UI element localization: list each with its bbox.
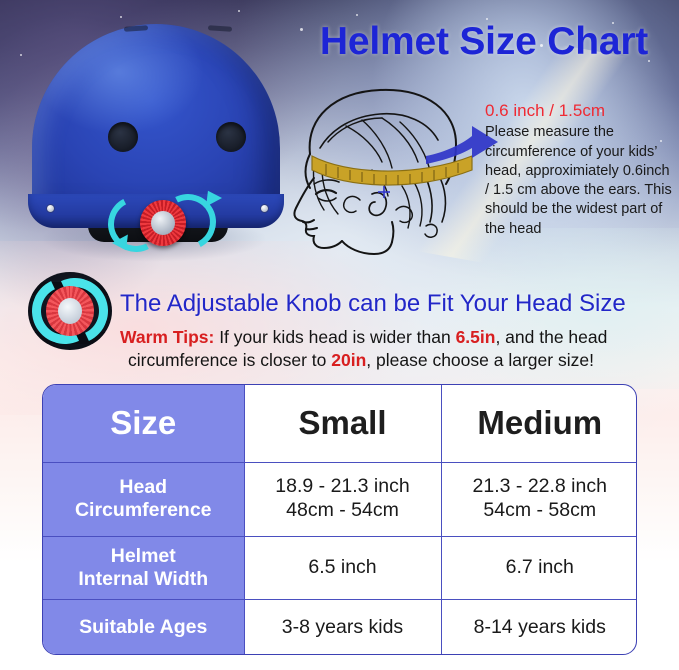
cell-line: 6.7 inch	[442, 556, 638, 580]
helmet-vent-hole-icon	[216, 122, 246, 152]
cell-line: 3-8 years kids	[245, 616, 441, 640]
helmet-rivet-icon	[46, 204, 55, 213]
cell-suitable-ages-medium: 8-14 years kids	[441, 599, 637, 655]
table-row: Head Circumference 18.9 - 21.3 inch 48cm…	[43, 462, 637, 536]
warm-tips-part2: , and the head	[495, 327, 607, 347]
page-title: Helmet Size Chart	[298, 22, 670, 61]
cell-line: 48cm - 54cm	[245, 499, 441, 523]
cell-suitable-ages-small: 3-8 years kids	[244, 599, 441, 655]
helmet-vent-slot-icon	[124, 25, 148, 32]
cell-line: 54cm - 58cm	[442, 499, 638, 523]
cell-helmet-internal-width-small: 6.5 inch	[244, 536, 441, 599]
warm-tips-value-circumference: 20in	[331, 350, 366, 370]
adjustable-knob-icon	[28, 272, 112, 350]
row-label-line: Head	[43, 476, 244, 499]
helmet-adjust-knob-icon	[140, 200, 186, 246]
table-header-medium: Medium	[441, 385, 637, 462]
warm-tips-part4: , please choose a larger size!	[366, 350, 594, 370]
measure-note-body: Please measure the circumference of your…	[485, 123, 675, 239]
row-label-suitable-ages: Suitable Ages	[43, 599, 244, 655]
measure-note-heading: 0.6 inch / 1.5cm	[485, 100, 675, 121]
cell-head-circumference-medium: 21.3 - 22.8 inch 54cm - 58cm	[441, 462, 637, 536]
row-label-head-circumference: Head Circumference	[43, 462, 244, 536]
cell-line: 8-14 years kids	[442, 616, 638, 640]
warm-tips-value-width: 6.5in	[456, 327, 496, 347]
row-label-helmet-internal-width: Helmet Internal Width	[43, 536, 244, 599]
measure-note: 0.6 inch / 1.5cm Please measure the circ…	[485, 100, 675, 239]
knob-dial-icon	[46, 286, 94, 336]
warm-tips: Warm Tips: If your kids head is wider th…	[120, 326, 672, 373]
star-icon	[356, 14, 358, 16]
cell-head-circumference-small: 18.9 - 21.3 inch 48cm - 54cm	[244, 462, 441, 536]
cell-helmet-internal-width-medium: 6.7 inch	[441, 536, 637, 599]
helmet-vent-slot-icon	[208, 25, 232, 32]
warm-tips-label: Warm Tips:	[120, 327, 214, 347]
helmet-rear-view-icon	[10, 18, 300, 278]
helmet-vent-hole-icon	[108, 122, 138, 152]
warm-tips-part1: If your kids head is wider than	[214, 327, 455, 347]
row-label-line: Helmet	[43, 545, 244, 568]
cell-line: 18.9 - 21.3 inch	[245, 475, 441, 499]
head-measure-diagram-icon	[276, 82, 506, 264]
table-header-row: Size Small Medium	[43, 385, 637, 462]
helmet-rivet-icon	[260, 204, 269, 213]
table-row: Helmet Internal Width 6.5 inch 6.7 inch	[43, 536, 637, 599]
table-header-small: Small	[244, 385, 441, 462]
cell-line: 21.3 - 22.8 inch	[442, 475, 638, 499]
size-chart-table: Size Small Medium Head Circumference 18.…	[42, 384, 637, 655]
row-label-line: Suitable Ages	[43, 616, 244, 639]
row-label-line: Circumference	[43, 499, 244, 522]
warm-tips-part3: circumference is closer to	[128, 350, 331, 370]
table-row: Suitable Ages 3-8 years kids 8-14 years …	[43, 599, 637, 655]
cell-line: 6.5 inch	[245, 556, 441, 580]
table-header-size: Size	[43, 385, 244, 462]
row-label-line: Internal Width	[43, 568, 244, 591]
knob-headline: The Adjustable Knob can be Fit Your Head…	[120, 290, 660, 318]
star-icon	[238, 10, 240, 12]
